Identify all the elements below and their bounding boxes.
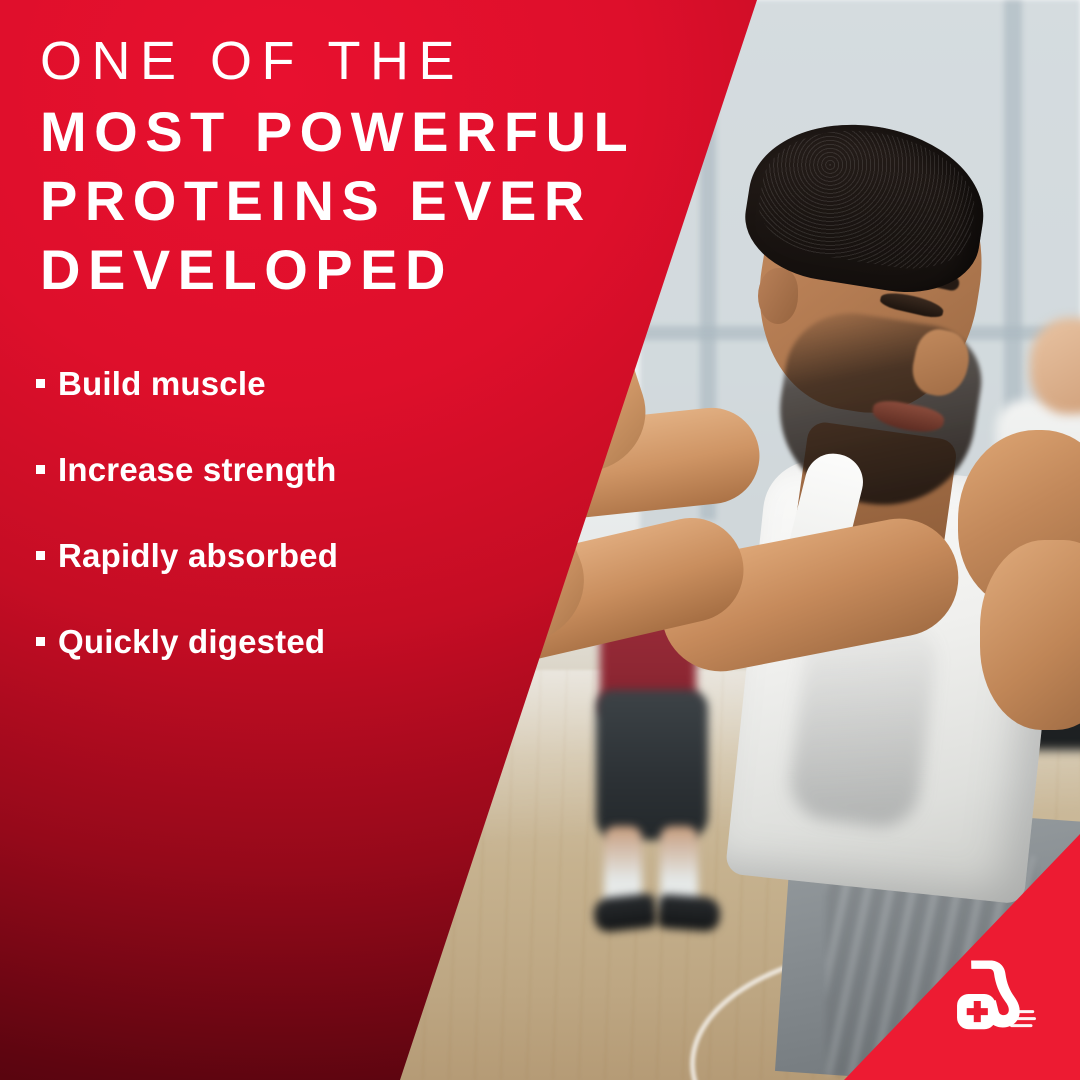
benefit-label: Rapidly absorbed (58, 539, 338, 572)
background-player-shorts (596, 690, 708, 840)
benefit-label: Build muscle (58, 367, 266, 400)
list-item: Increase strength (36, 426, 338, 512)
copy-block: ONE OF THE MOST POWERFUL PROTEINS EVER D… (40, 34, 700, 310)
square-bullet-icon (36, 637, 45, 646)
benefits-list: Build muscle Increase strength Rapidly a… (36, 340, 338, 684)
benefit-label: Increase strength (58, 453, 337, 486)
background-player-shoe (592, 893, 657, 933)
promo-banner: ONE OF THE MOST POWERFUL PROTEINS EVER D… (0, 0, 1080, 1080)
flexed-bicep-with-medical-cross-icon (950, 950, 1038, 1038)
list-item: Build muscle (36, 340, 338, 426)
square-bullet-icon (36, 465, 45, 474)
benefit-label: Quickly digested (58, 625, 325, 658)
headline-line-4: DEVELOPED (40, 241, 700, 298)
list-item: Quickly digested (36, 598, 338, 684)
list-item: Rapidly absorbed (36, 512, 338, 598)
headline-line-3: PROTEINS EVER (40, 172, 700, 229)
page-title: ONE OF THE MOST POWERFUL PROTEINS EVER D… (40, 34, 700, 298)
headline-line-2: MOST POWERFUL (40, 103, 700, 160)
headline-line-1: ONE OF THE (40, 34, 700, 89)
square-bullet-icon (36, 551, 45, 560)
background-player-shoe (657, 894, 721, 932)
athlete-ear (758, 268, 798, 324)
brand-logo[interactable] (950, 950, 1038, 1038)
square-bullet-icon (36, 379, 45, 388)
